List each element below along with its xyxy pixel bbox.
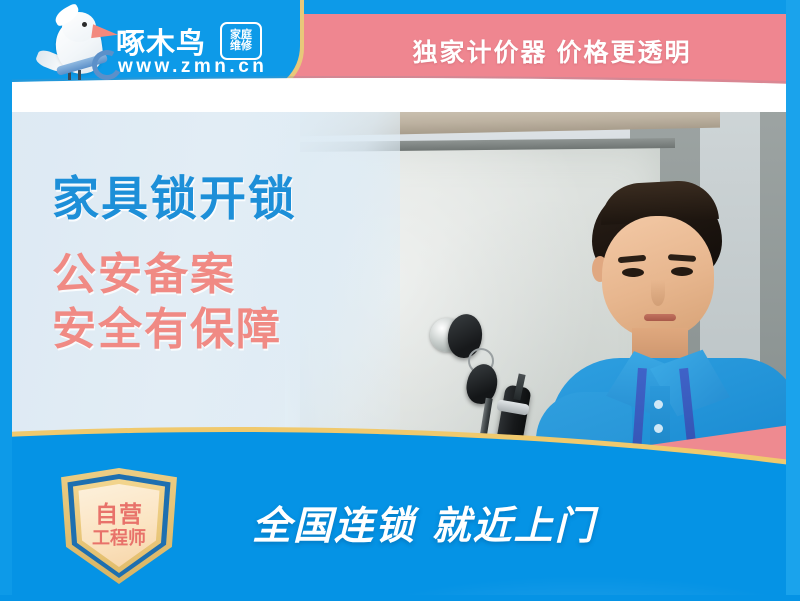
technician-mouth bbox=[644, 314, 676, 321]
technician-nose bbox=[651, 280, 665, 306]
polo-button-bottom bbox=[654, 424, 663, 433]
hero-title: 家具锁开锁 bbox=[52, 160, 297, 229]
brand-website: www.zmn.cn bbox=[118, 56, 267, 78]
brand-logo[interactable]: 啄木鸟 家庭 维修 www.zmn.cn bbox=[34, 6, 254, 86]
technician-eye-left bbox=[622, 268, 644, 277]
brand-tag-line2: 维修 bbox=[230, 41, 252, 52]
wrench-icon bbox=[48, 52, 112, 74]
header-bar: 独家计价器 价格更透明 啄木鸟 家庭 维修 bbox=[0, 0, 800, 100]
polo-button-top bbox=[654, 400, 663, 409]
frame-bottom bbox=[0, 595, 800, 601]
hero-subtitle: 公安备案安全有保障 bbox=[52, 247, 297, 358]
frame-right bbox=[786, 0, 800, 601]
brand-service-tag: 家庭 维修 bbox=[220, 22, 262, 60]
frame-left bbox=[0, 0, 12, 601]
technician-eye-right bbox=[671, 267, 693, 276]
badge-label-line2: 工程师 bbox=[75, 524, 163, 550]
hero-subtitle-line1: 公安备案 bbox=[52, 249, 236, 300]
footer-slogan: 全国连锁 就近上门 bbox=[252, 495, 596, 551]
hero-subtitle-line2: 安全有保障 bbox=[52, 304, 282, 355]
hero-copy: 家具锁开锁 公安备案安全有保障 bbox=[52, 160, 297, 358]
promo-poster: 独家计价器 价格更透明 啄木鸟 家庭 维修 bbox=[0, 0, 800, 601]
self-operated-badge: 自营 工程师 bbox=[56, 468, 182, 584]
